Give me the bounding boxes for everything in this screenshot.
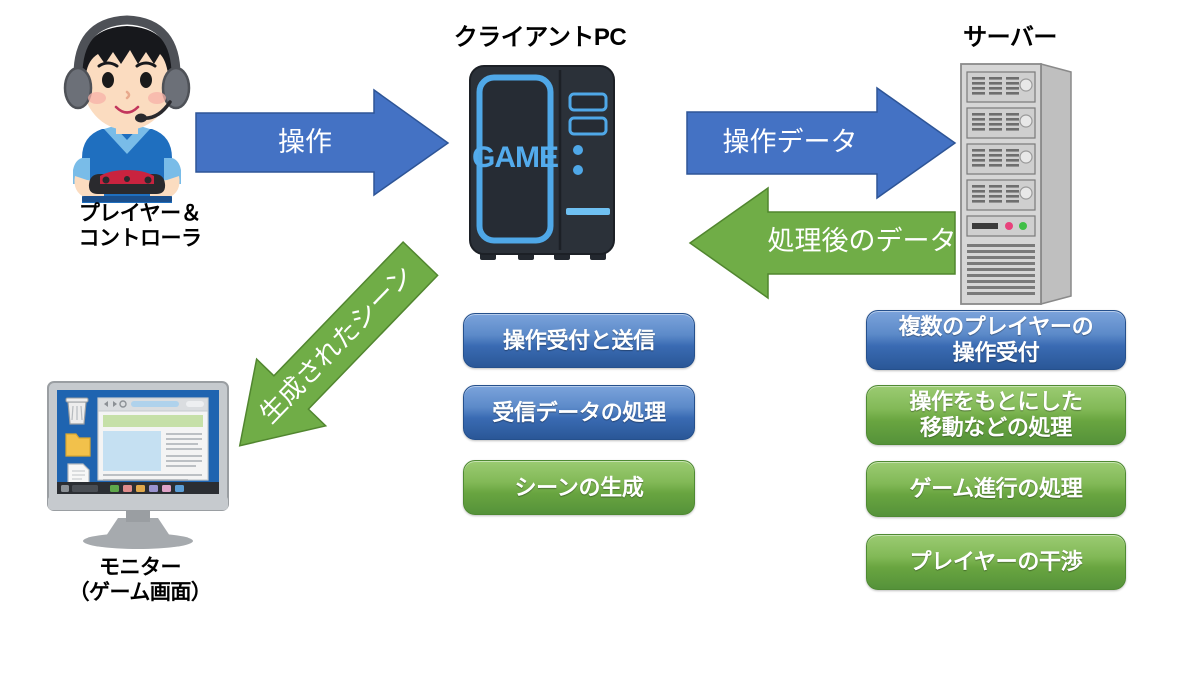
server-title: サーバー bbox=[900, 24, 1120, 52]
client-pc-icon: GAME bbox=[462, 62, 622, 267]
arrow-generated-scene-label: 生成されたシーン bbox=[254, 259, 419, 429]
server-process-box-4[interactable]: プレイヤーの干渉 bbox=[866, 534, 1126, 590]
server-process-box-3[interactable]: ゲーム進行の処理 bbox=[866, 461, 1126, 517]
arrow-processed-data: 処理後のデータ bbox=[690, 188, 957, 298]
monitor-caption: モニター （ゲーム画面） bbox=[20, 556, 260, 606]
player-caption: プレイヤー＆ コントローラ bbox=[20, 202, 260, 252]
client-process-box-1[interactable]: 操作受付と送信 bbox=[463, 313, 695, 368]
arrow-generated-scene: 生成されたシーン bbox=[205, 225, 455, 479]
arrow-operation-label: 操作 bbox=[278, 127, 332, 157]
trash-icon bbox=[66, 398, 88, 424]
arrow-operation: 操作 bbox=[196, 90, 448, 195]
client-process-box-3[interactable]: シーンの生成 bbox=[463, 460, 695, 515]
monitor-icon bbox=[38, 378, 238, 550]
server-process-box-1[interactable]: 複数のプレイヤーの 操作受付 bbox=[866, 310, 1126, 370]
server-process-box-2[interactable]: 操作をもとにした 移動などの処理 bbox=[866, 385, 1126, 445]
client-process-box-2[interactable]: 受信データの処理 bbox=[463, 385, 695, 440]
server-icon bbox=[955, 58, 1075, 308]
arrow-processed-data-label: 処理後のデータ bbox=[768, 226, 957, 256]
arrow-operation-data: 操作データ bbox=[687, 88, 955, 198]
diagram-canvas: 操作 操作データ 処理後のデータ 生成されたシーン bbox=[0, 0, 1200, 675]
client-pc-title: クライアントPC bbox=[430, 24, 650, 52]
arrow-operation-data-label: 操作データ bbox=[723, 127, 858, 157]
player-icon bbox=[42, 8, 212, 203]
svg-text:GAME: GAME bbox=[472, 141, 558, 174]
